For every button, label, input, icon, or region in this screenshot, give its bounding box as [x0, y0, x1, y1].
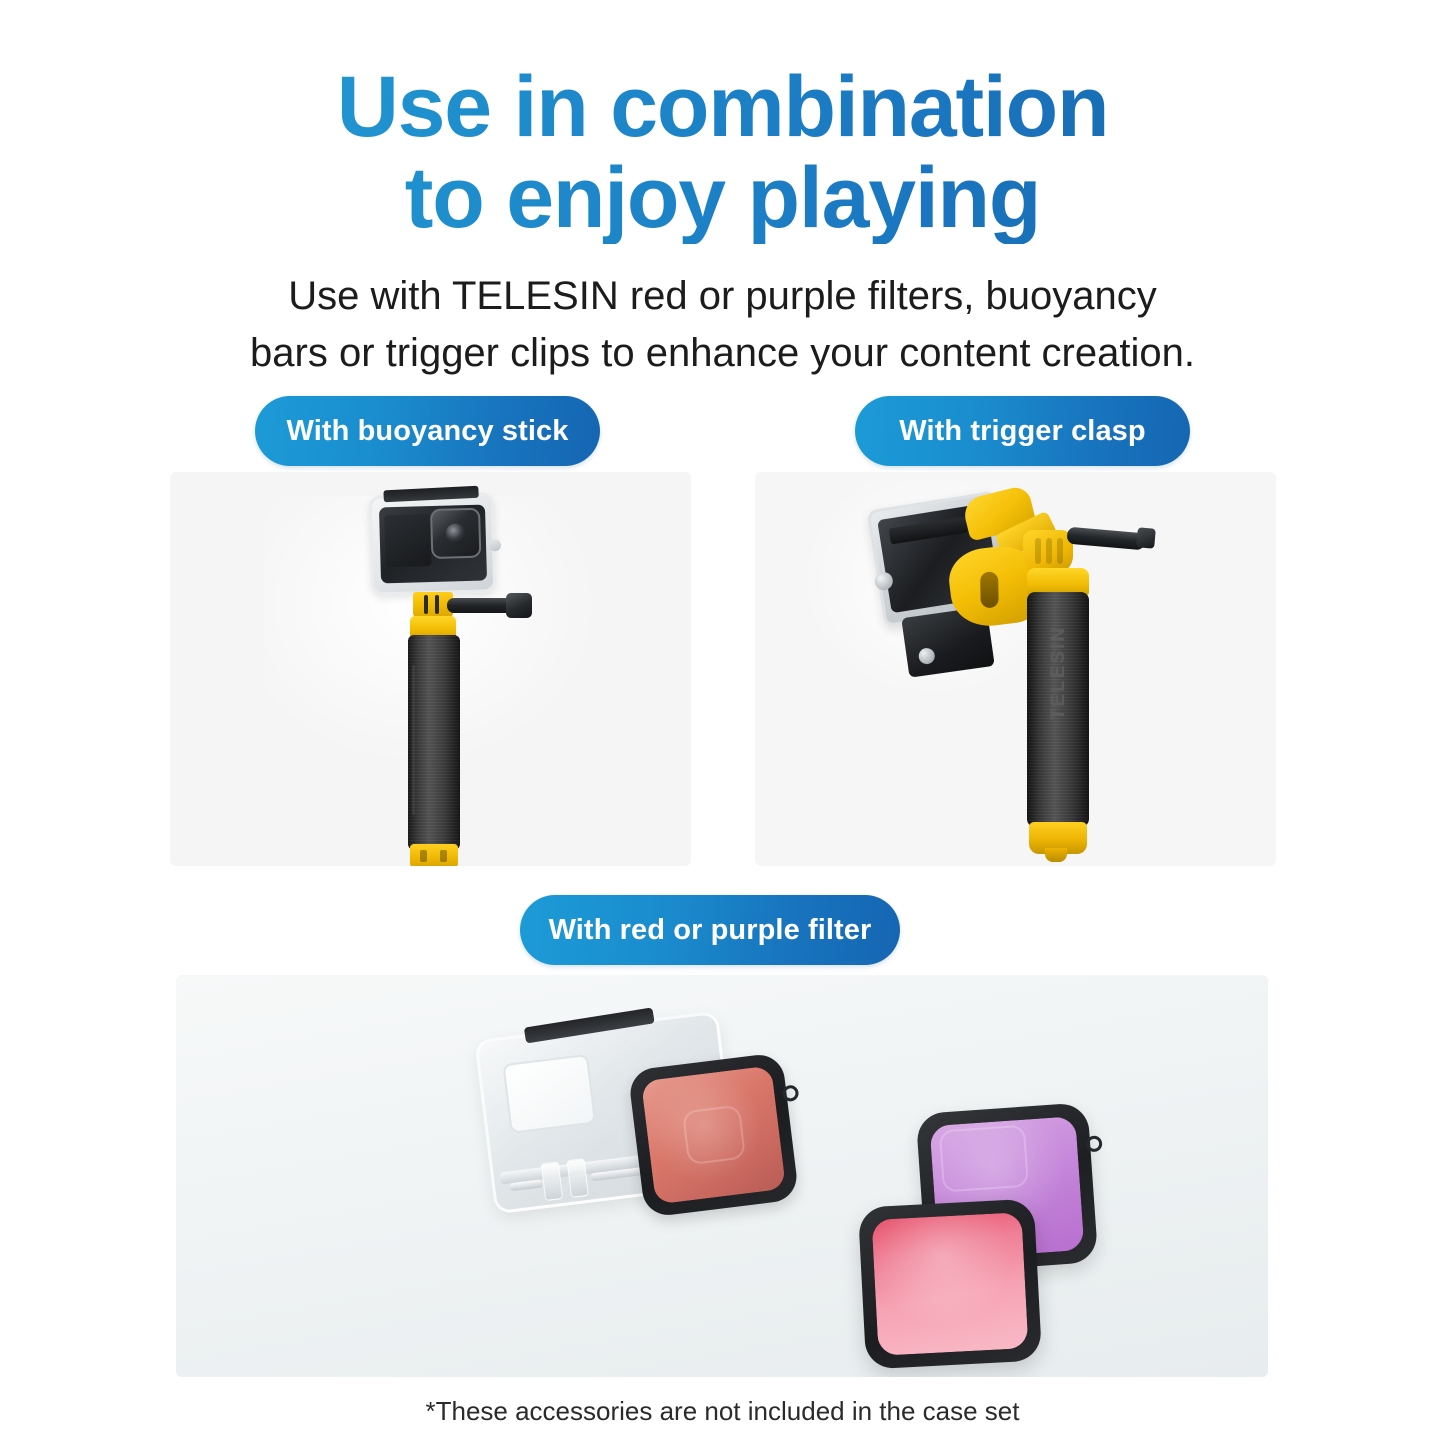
badge-buoyancy-stick-label: With buoyancy stick [286, 415, 568, 448]
badge-color-filter-label: With red or purple filter [549, 914, 872, 947]
photo-buoyancy-stick-illustration [170, 472, 691, 866]
photo-trigger-clasp-illustration: TELESIN [755, 472, 1276, 866]
mount-slot [435, 595, 439, 614]
endcap-tip [1045, 848, 1067, 862]
camera-screen [889, 516, 969, 544]
pink-filter-glass [872, 1212, 1029, 1356]
page-title-line-1: Use in combination [0, 62, 1445, 153]
thumbscrew-bar [1066, 527, 1145, 551]
red-filter-mounted [628, 1052, 800, 1218]
camera-lens-port [430, 508, 481, 559]
case-screen-window [502, 1054, 596, 1134]
badge-trigger-clasp: With trigger clasp [855, 396, 1190, 466]
camera-lens-glass [445, 523, 466, 544]
case-lid [383, 486, 478, 503]
buoyancy-grip: TELESIN [1027, 592, 1089, 827]
buoyancy-grip [408, 635, 460, 850]
thumbscrew-knob [506, 593, 532, 618]
endcap-notch [420, 850, 427, 862]
yoke-fin [1046, 538, 1052, 564]
page-subtitle-line-1: Use with TELESIN red or purple filters, … [110, 268, 1335, 325]
footnote-disclaimer: *These accessories are not included in t… [0, 1396, 1445, 1427]
red-filter-ring [681, 1105, 745, 1166]
yoke-fin [1035, 538, 1041, 564]
pink-filter [858, 1199, 1042, 1370]
photo-color-filters [176, 975, 1268, 1377]
purple-filter-ring [939, 1125, 1029, 1193]
page-title: Use in combination to enjoy playing [0, 62, 1445, 244]
page-subtitle: Use with TELESIN red or purple filters, … [110, 268, 1335, 382]
grip-endcap [1029, 822, 1087, 854]
product-feature-page: Use in combination to enjoy playing Use … [0, 0, 1445, 1445]
mount-slot [424, 595, 428, 614]
badge-color-filter: With red or purple filter [520, 895, 900, 965]
yoke-fin [1057, 538, 1063, 564]
photo-color-filters-illustration [176, 975, 1268, 1377]
badge-trigger-clasp-label: With trigger clasp [899, 415, 1145, 448]
thumbscrew-knob [1136, 527, 1156, 548]
page-subtitle-line-2: bars or trigger clips to enhance your co… [110, 325, 1335, 382]
trigger-clasp-slot [980, 572, 999, 608]
grip-endcap [410, 844, 458, 866]
camera-screen [384, 514, 431, 567]
camera-body [379, 505, 487, 584]
photo-trigger-clasp: TELESIN [755, 472, 1276, 866]
grip-ridge [412, 665, 415, 815]
photo-buoyancy-stick [170, 472, 691, 866]
waterproof-case [369, 492, 497, 595]
page-title-line-2: to enjoy playing [0, 153, 1445, 244]
endcap-notch [440, 850, 447, 862]
mount-screw [918, 647, 936, 665]
telesin-brand-text: TELESIN [1048, 613, 1070, 733]
badge-buoyancy-stick: With buoyancy stick [255, 396, 600, 466]
